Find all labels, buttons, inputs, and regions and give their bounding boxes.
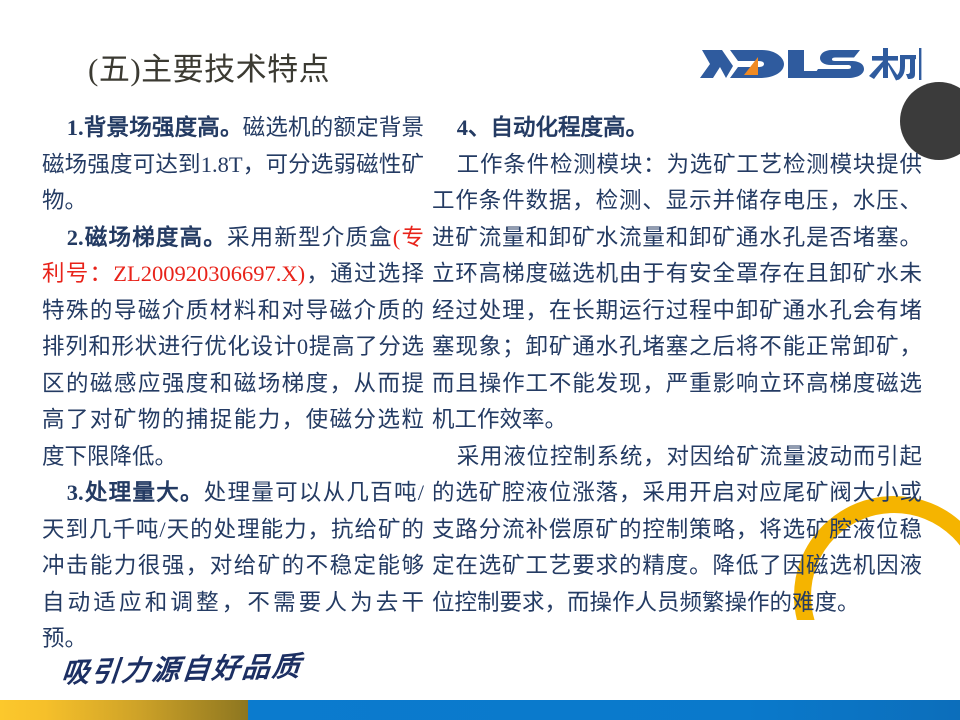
paragraph-1: 1.背景场强度高。磁选机的额定背景磁场强度可达到1.8T，可分选弱磁性矿物。 (42, 110, 424, 220)
paragraph-4-heading: 4、自动化程度高。 (457, 115, 648, 140)
paragraph-4-heading-line: 4、自动化程度高。 (432, 110, 922, 147)
right-column: 4、自动化程度高。 工作条件检测模块：为选矿工艺检测模块提供工作条件数据，检测、… (432, 110, 922, 621)
paragraph-1-heading: 1.背景场强度高。 (67, 115, 243, 140)
page-title: (五)主要技术特点 (88, 44, 330, 89)
paragraph-4: 工作条件检测模块：为选矿工艺检测模块提供工作条件数据，检测、显示并储存电压，水压… (432, 147, 922, 439)
slide-canvas: (五)主要技术特点 1.背景场强度高。磁选机的额定背景磁场强度可达到1.8T，可… (0, 0, 960, 720)
paragraph-2-heading: 2.磁场梯度高。 (67, 225, 227, 250)
bottom-bar-gold-segment (0, 700, 248, 720)
bottom-bar-blue-segment (248, 700, 960, 720)
paragraph-5: 采用液位控制系统，对因给矿流量波动而引起的选矿腔液位涨落，采用开启对应尾矿阀大小… (432, 439, 922, 622)
paragraph-2-body-pre: 采用新型介质盒 (227, 225, 393, 250)
ydls-logo-icon (700, 44, 922, 84)
paragraph-2: 2.磁场梯度高。采用新型介质盒(专利号：ZL200920306697.X)，通过… (42, 220, 424, 476)
paragraph-3-heading: 3.处理量大。 (67, 480, 204, 505)
left-column: 1.背景场强度高。磁选机的额定背景磁场强度可达到1.8T，可分选弱磁性矿物。 2… (42, 110, 424, 658)
paragraph-3-body: 处理量可以从几百吨/天到几千吨/天的处理能力，抗给矿的冲击能力很强，对给矿的不稳… (42, 480, 424, 651)
company-logo (700, 44, 922, 84)
paragraph-3: 3.处理量大。处理量可以从几百吨/天到几千吨/天的处理能力，抗给矿的冲击能力很强… (42, 475, 424, 658)
paragraph-2-body-post: ，通过选择特殊的导磁介质材料和对导磁介质的排列和形状进行优化设计0提高了分选区的… (42, 261, 424, 469)
footer-slogan: 吸引力源自好品质 (60, 645, 305, 692)
bottom-bar (0, 700, 960, 720)
